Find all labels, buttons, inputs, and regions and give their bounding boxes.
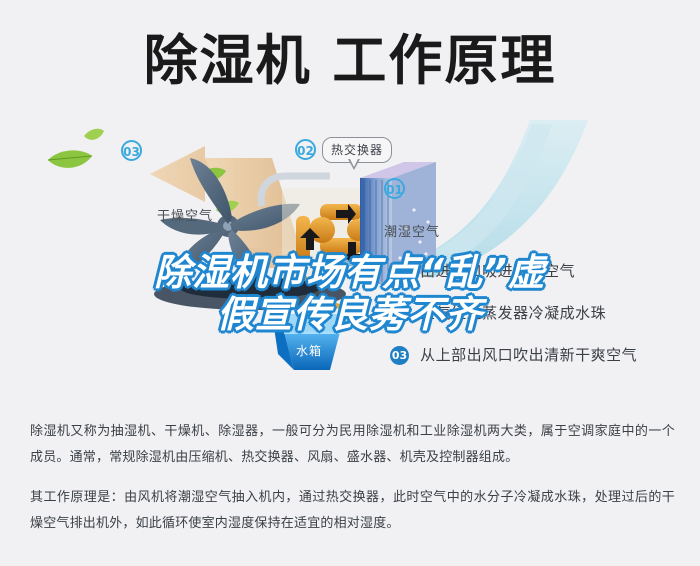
badge-03: 03 <box>121 140 142 161</box>
title-band: 除湿机 工作原理 <box>0 0 700 122</box>
step-item: 02 空气经过蒸发器冷凝成水珠 <box>390 292 690 334</box>
step-label: 从上部出风口吹出清新干爽空气 <box>420 346 637 365</box>
step-item: 03 从上部出风口吹出清新干爽空气 <box>390 334 690 376</box>
step-label: 空气经过蒸发器冷凝成水珠 <box>420 304 606 323</box>
badge-02: 02 <box>295 139 316 160</box>
step-number-badge: 01 <box>390 262 409 281</box>
step-item: 01 由进风口吸进潮湿空气 <box>390 250 690 292</box>
step-number-badge: 03 <box>390 346 409 365</box>
label-water-tank: 水箱 <box>296 342 322 359</box>
paragraph-principle: 其工作原理是：由风机将潮湿空气抽入机内，通过热交换器，此时空气中的水分子冷凝成水… <box>30 485 675 537</box>
step-label: 由进风口吸进潮湿空气 <box>420 262 575 281</box>
step-number-badge: 02 <box>390 304 409 323</box>
label-humid-air: 潮湿空气 <box>384 221 440 240</box>
page-title: 除湿机 工作原理 <box>0 28 700 94</box>
page-root: 除湿机 工作原理 <box>0 0 700 566</box>
body-copy: 除湿机又称为抽湿机、干燥机、除湿器，一般可分为民用除湿机和工业除湿机两大类，属于… <box>0 403 700 566</box>
label-dry-air: 干燥空气 <box>157 205 213 224</box>
badge-01: 01 <box>384 178 405 199</box>
callout-tail-icon <box>348 159 360 170</box>
paragraph-definition: 除湿机又称为抽湿机、干燥机、除湿器，一般可分为民用除湿机和工业除湿机两大类，属于… <box>30 419 675 471</box>
step-list: 01 由进风口吸进潮湿空气 02 空气经过蒸发器冷凝成水珠 03 从上部出风口吹… <box>390 250 690 376</box>
